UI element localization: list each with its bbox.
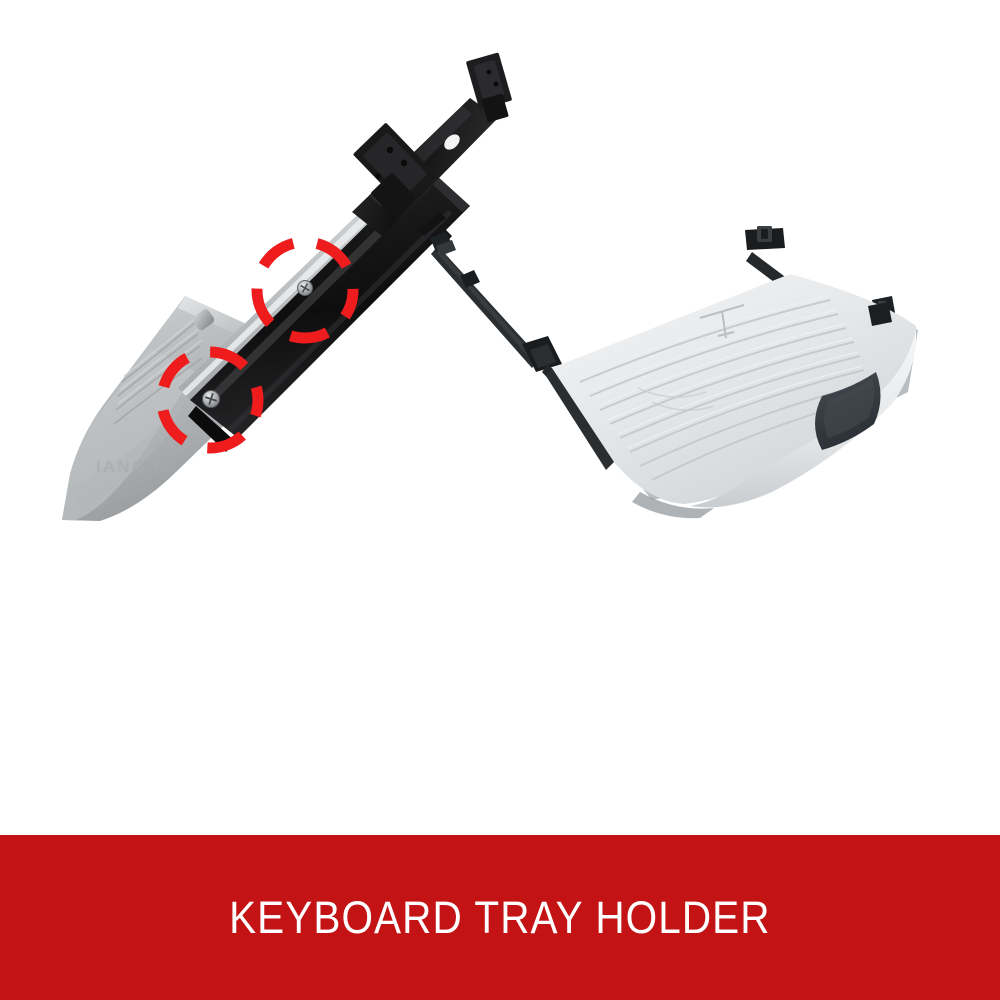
- tray-watermark: IANO M: [96, 457, 171, 476]
- instruction-block: 1 fix the slides by screwing it on the s…: [0, 640, 1000, 835]
- lower-screw: [203, 391, 220, 408]
- product-title: KEYBOARD TRAY HOLDER: [229, 892, 771, 944]
- product-instruction-sheet: IANO M: [0, 0, 1000, 1000]
- assembly-photo: IANO M: [0, 0, 1000, 640]
- upper-screw: [298, 281, 313, 296]
- product-photo-area: IANO M: [0, 0, 1000, 640]
- tray-side-bracket: [868, 302, 892, 326]
- bottom-title-banner: KEYBOARD TRAY HOLDER: [0, 835, 1000, 1000]
